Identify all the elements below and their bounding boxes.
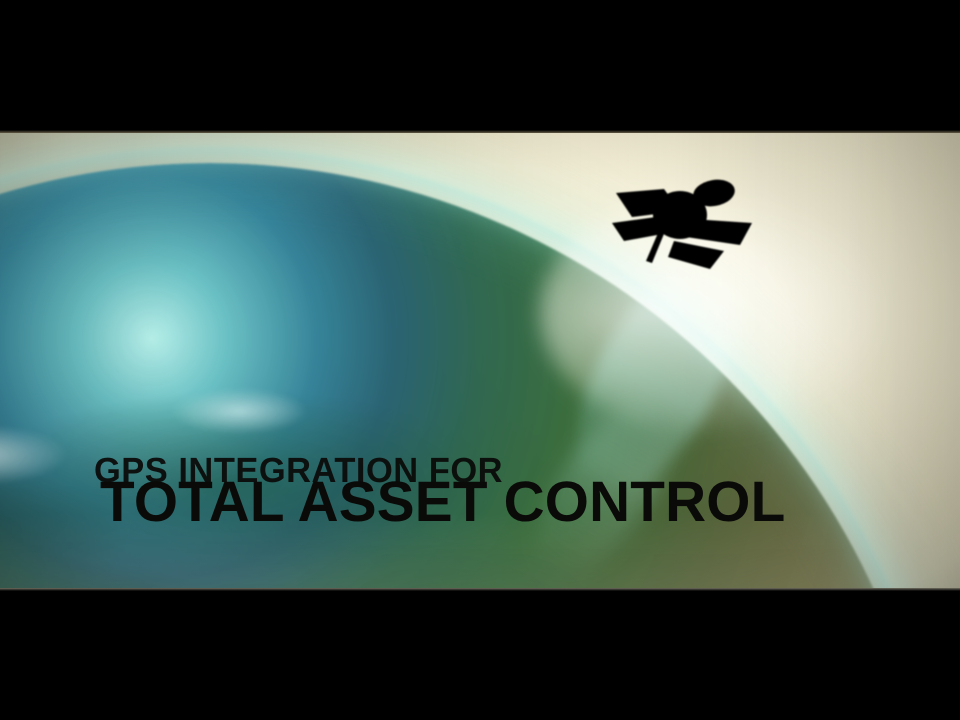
video-frame: GPS INTEGRATION FOR TOTAL ASSET CONTROL xyxy=(0,0,960,720)
video-stage: GPS INTEGRATION FOR TOTAL ASSET CONTROL xyxy=(0,133,960,588)
letterbox-bar-top xyxy=(0,0,960,133)
satellite-icon xyxy=(612,171,758,275)
letterbox-bar-bottom xyxy=(0,588,960,720)
